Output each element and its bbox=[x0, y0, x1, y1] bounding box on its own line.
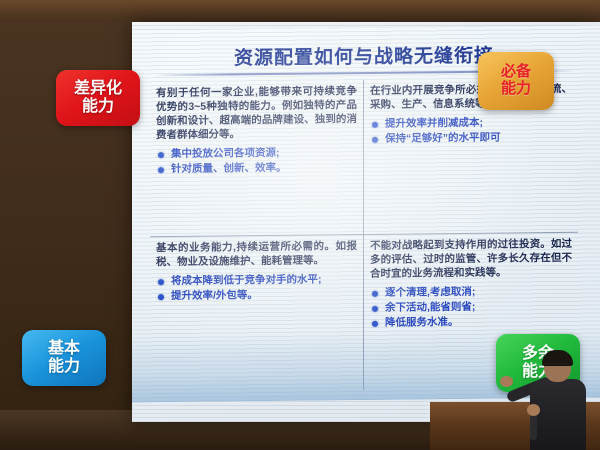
bullet-dot-icon bbox=[372, 137, 378, 143]
quadrant-redundant-paragraph: 不能对战略起到支持作用的过往投资。如过多的评估、过时的监管、许多长久存在但不合时… bbox=[370, 237, 572, 281]
presenter-torso bbox=[530, 379, 586, 450]
bullet-dot-icon bbox=[158, 152, 164, 158]
bullet-dot-icon bbox=[158, 294, 164, 300]
presenter-glasses-icon bbox=[544, 363, 570, 369]
badge-basic-line2: 能力 bbox=[48, 358, 80, 376]
badge-basic-line1: 基本 bbox=[48, 340, 80, 358]
bullet-text: 集中投放公司各项资源; bbox=[171, 147, 280, 160]
quadrant-differentiating-paragraph: 有别于任何一家企业,能够带来可持续竞争优势的3~5种独特的能力。例如独特的产品创… bbox=[156, 84, 357, 142]
bullet-dot-icon bbox=[158, 167, 164, 173]
quadrant-differentiating-bullets: 集中投放公司各项资源; 针对质量、创新、效率。 bbox=[156, 145, 357, 177]
badge-differentiating-capability: 差异化 能力 bbox=[56, 70, 140, 126]
quadrant-basic-bullets: 将成本降到低于竞争对手的水平; 提升效率/外包等。 bbox=[156, 272, 357, 304]
bullet-text: 针对质量、创新、效率。 bbox=[171, 162, 287, 175]
bullet-dot-icon bbox=[372, 122, 378, 128]
badge-differentiating-line1: 差异化 bbox=[74, 80, 122, 98]
presenter-pointing-hand bbox=[500, 376, 513, 387]
quadrant-differentiating: 有别于任何一家企业,能够带来可持续竞争优势的3~5种独特的能力。例如独特的产品创… bbox=[150, 80, 364, 237]
quadrant-redundant-bullets: 逐个清理,考虑取消; 余下活动,能省则省; 降低服务水准。 bbox=[370, 284, 572, 331]
badge-essential-line2: 能力 bbox=[501, 81, 531, 98]
badge-essential-line1: 必备 bbox=[501, 64, 531, 81]
bullet-text: 提升效率/外包等。 bbox=[171, 289, 258, 302]
bullet-dot-icon bbox=[372, 321, 378, 327]
quadrant-basic: 基本的业务能力,持续运营所必需的。如报税、物业及设施维护、能耗管理等。 将成本降… bbox=[150, 235, 364, 392]
quadrant-basic-paragraph: 基本的业务能力,持续运营所必需的。如报税、物业及设施维护、能耗管理等。 bbox=[156, 239, 357, 269]
badge-essential-capability: 必备 能力 bbox=[478, 52, 554, 110]
list-item: 保持“足够好”的水平即可 bbox=[370, 130, 572, 147]
presenter bbox=[524, 352, 594, 450]
bullet-text: 将成本降到低于竞争对手的水平; bbox=[171, 273, 322, 287]
presenter-mic-hand bbox=[527, 404, 540, 416]
list-item: 针对质量、创新、效率。 bbox=[156, 160, 357, 177]
bullet-text: 提升效率并削减成本; bbox=[385, 117, 483, 130]
bullet-dot-icon bbox=[372, 291, 378, 297]
list-item: 降低服务水准。 bbox=[370, 314, 572, 331]
bullet-dot-icon bbox=[372, 306, 378, 312]
quadrant-essential-bullets: 提升效率并削减成本; 保持“足够好”的水平即可 bbox=[370, 115, 572, 147]
bullet-dot-icon bbox=[158, 279, 164, 285]
list-item: 提升效率/外包等。 bbox=[156, 287, 357, 304]
bullet-text: 保持“足够好”的水平即可 bbox=[385, 132, 501, 145]
bullet-text: 余下活动,能省则省; bbox=[385, 301, 475, 314]
badge-basic-capability: 基本 能力 bbox=[22, 330, 106, 386]
bullet-text: 逐个清理,考虑取消; bbox=[385, 286, 475, 299]
photo-scene: 资源配置如何与战略无缝衔接 有别于任何一家企业,能够带来可持续竞争优势的3~5种… bbox=[0, 0, 600, 450]
bullet-text: 降低服务水准。 bbox=[385, 316, 459, 329]
badge-differentiating-line2: 能力 bbox=[82, 98, 114, 116]
